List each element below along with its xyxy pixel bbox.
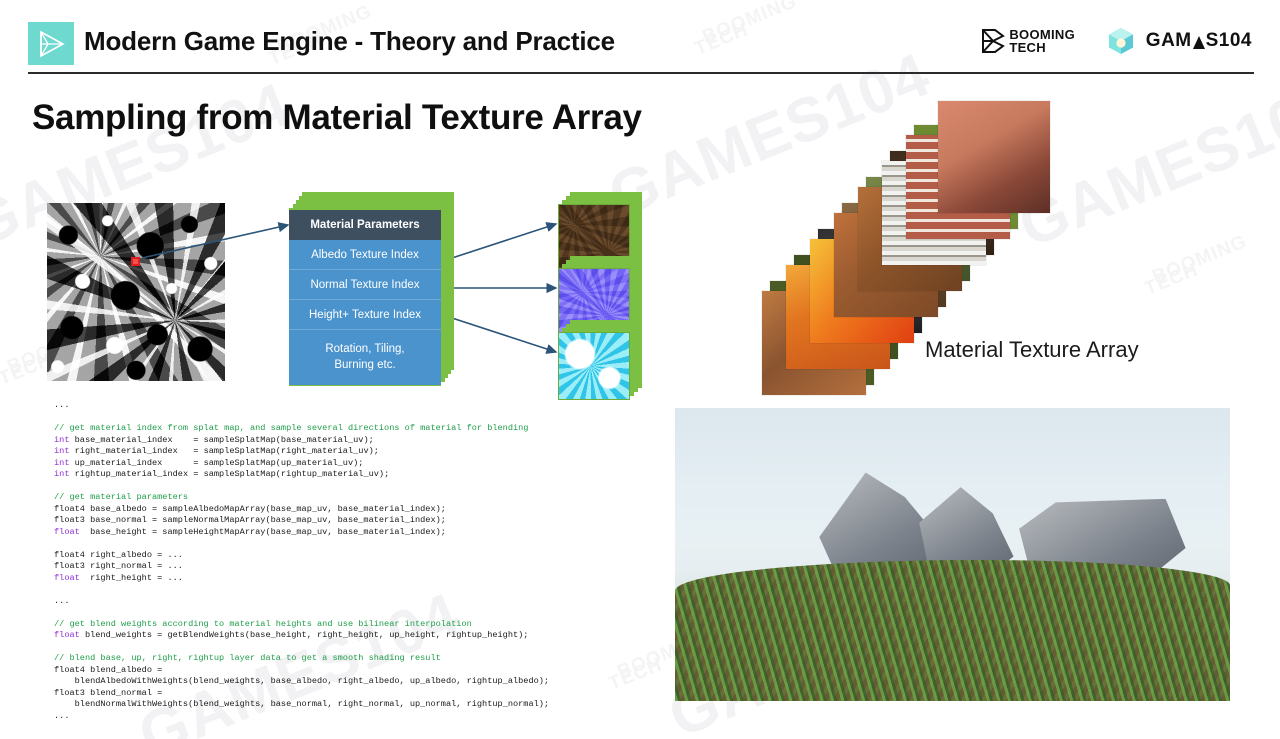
texture-card-top <box>938 101 1050 213</box>
page-title: Modern Game Engine - Theory and Practice <box>84 26 615 57</box>
games104-logo: GAM S104 <box>1106 26 1252 56</box>
splat-map <box>47 203 225 381</box>
rendered-terrain-screenshot <box>675 408 1230 701</box>
material-parameter-card-stack: Material Parameters Albedo Texture Index… <box>289 192 454 382</box>
extra-params-line1: Rotation, Tiling, <box>325 342 404 358</box>
play-triangle-icon <box>28 22 74 65</box>
sample-point-marker <box>131 257 140 266</box>
slide-canvas: GAMES104 GAMES104 GAMES104 GAMES104 GAME… <box>0 0 1280 739</box>
extra-params-line2: Burning etc. <box>334 358 395 374</box>
material-parameters-panel: Material Parameters Albedo Texture Index… <box>289 210 441 385</box>
games104-label-left: GAM <box>1146 30 1192 52</box>
booming-line2: TECH <box>1009 41 1075 54</box>
games104-cube-icon <box>1106 26 1136 56</box>
booming-b-icon <box>981 28 1005 54</box>
row-albedo-texture-index[interactable]: Albedo Texture Index <box>289 240 441 270</box>
row-normal-texture-index[interactable]: Normal Texture Index <box>289 270 441 300</box>
terrain-grass-layer <box>675 560 1230 701</box>
slide-heading: Sampling from Material Texture Array <box>32 98 642 138</box>
booming-tech-wordmark: BOOMING TECH <box>1009 28 1075 55</box>
height-texture-array <box>558 320 646 400</box>
watermark-booming-tech: TECH <box>606 655 665 694</box>
row-height-texture-index[interactable]: Height+ Texture Index <box>289 300 441 330</box>
games104-wordmark: GAM S104 <box>1146 30 1252 52</box>
material-parameters-header: Material Parameters <box>289 210 441 240</box>
header-divider <box>28 72 1254 74</box>
games104-label-right: S104 <box>1206 30 1252 52</box>
row-extra-params[interactable]: Rotation, Tiling, Burning etc. <box>289 330 441 385</box>
games104-triangle-icon <box>1193 36 1205 49</box>
material-texture-array-label: Material Texture Array <box>925 337 1139 363</box>
shader-code-block: ... // get material index from splat map… <box>54 400 549 722</box>
booming-tech-logo: BOOMING TECH <box>981 28 1075 55</box>
height-texture-face <box>558 332 630 400</box>
booming-line1: BOOMING <box>1009 28 1075 41</box>
slide-header: Modern Game Engine - Theory and Practice… <box>0 0 1280 78</box>
